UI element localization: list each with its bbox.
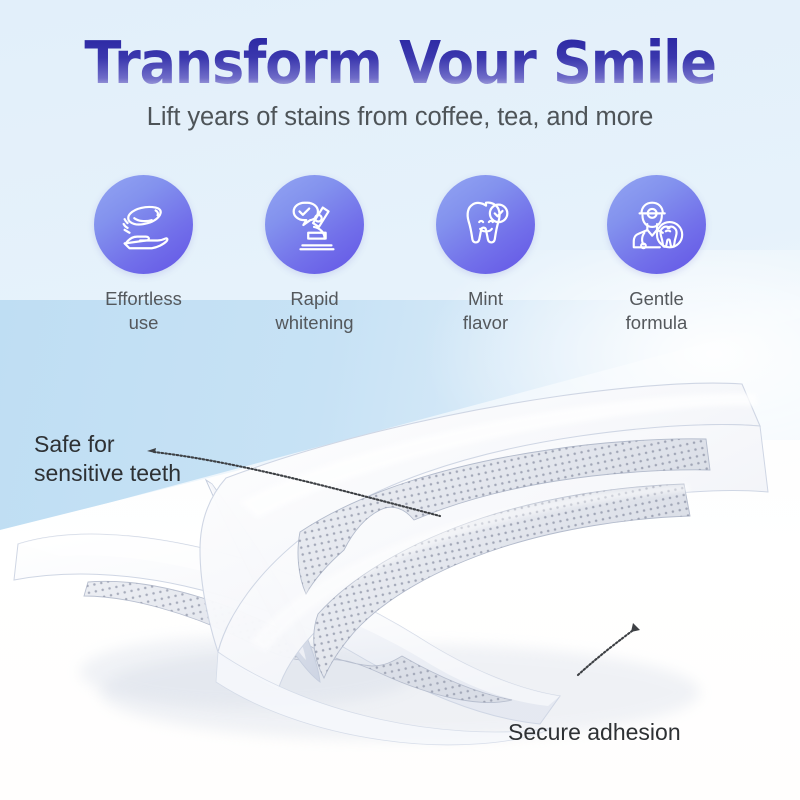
feature-label: Rapid whitening [275, 287, 353, 336]
feature-label: Gentle formula [626, 287, 688, 336]
feature-item-gentle-formula: Gentle formula [599, 175, 714, 336]
callout-safe-for-sensitive-teeth: Safe for sensitive teeth [34, 430, 181, 489]
feature-label: Mint flavor [463, 287, 508, 336]
feature-item-mint-flavor: Mint flavor [428, 175, 543, 336]
header: Transform Vour Smile Lift years of stain… [0, 0, 800, 132]
strip-front [200, 383, 768, 690]
strip-on-hand-icon [113, 194, 175, 256]
feature-list: Effortless use Rapid whitening [0, 175, 800, 336]
feature-icon-badge [436, 175, 535, 274]
smiling-tooth-check-icon [455, 194, 517, 256]
callout-secure-adhesion: Secure adhesion [508, 718, 681, 747]
feature-icon-badge [265, 175, 364, 274]
feature-label: Effortless use [105, 287, 182, 336]
feature-icon-badge [607, 175, 706, 274]
microscope-check-icon [284, 194, 346, 256]
feature-icon-badge [94, 175, 193, 274]
feature-item-rapid-whitening: Rapid whitening [257, 175, 372, 336]
product-infographic: Transform Vour Smile Lift years of stain… [0, 0, 800, 800]
page-title: Transform Vour Smile [32, 0, 768, 93]
feature-item-effortless-use: Effortless use [86, 175, 201, 336]
dentist-tooth-icon [626, 194, 688, 256]
page-subtitle: Lift years of stains from coffee, tea, a… [0, 103, 800, 132]
whitening-strip-illustration [0, 352, 800, 752]
product-image [0, 352, 800, 752]
